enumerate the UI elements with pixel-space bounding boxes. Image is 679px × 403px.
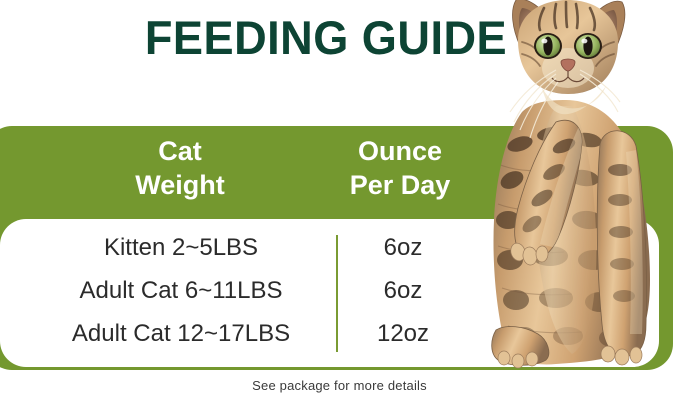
cell-ounce-per-day: 6oz — [348, 231, 458, 265]
column-header-cat-weight: Cat Weight — [52, 134, 308, 202]
footer-note: See package for more details — [0, 378, 679, 393]
feeding-guide-graphic: FEEDING GUIDE Cat Weight Ounce Per Day K… — [0, 0, 679, 403]
cell-ounce-per-day: 6oz — [348, 274, 458, 308]
cell-cat-weight: Kitten 2~5LBS — [38, 231, 324, 265]
cell-cat-weight: Adult Cat 12~17LBS — [38, 317, 324, 351]
cell-ounce-per-day: 12oz — [348, 317, 458, 351]
bengal-cat-photo — [460, 0, 679, 376]
cell-cat-weight: Adult Cat 6~11LBS — [38, 274, 324, 308]
cat-front-leg — [597, 131, 646, 365]
column-header-cat-weight-line2: Weight — [52, 168, 308, 202]
column-header-ounce-per-day-line1: Ounce — [358, 136, 442, 166]
column-header-cat-weight-line1: Cat — [158, 136, 202, 166]
